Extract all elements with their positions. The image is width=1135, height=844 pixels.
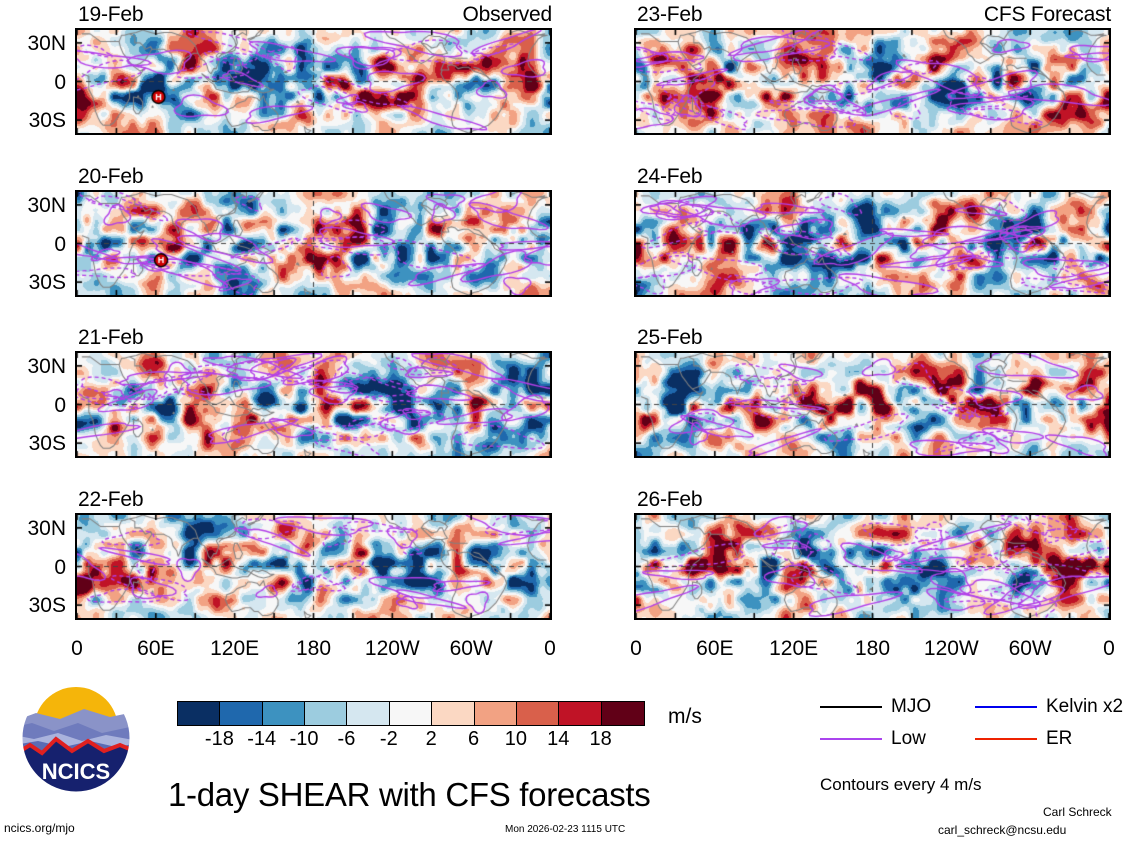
legend-label-1: Kelvin x2 — [1046, 697, 1123, 716]
colorbar-segment-10 — [602, 702, 644, 725]
y-axis-label-row2-30s: 30S — [0, 272, 66, 293]
legend-item-mjo: MJO — [820, 697, 931, 716]
colorbar-segment-1 — [220, 702, 262, 725]
x-axis-label-observed-2: 120E — [190, 638, 280, 659]
colorbar-segment-2 — [263, 702, 305, 725]
x-axis-label-forecast-2: 120E — [749, 638, 839, 659]
colorbar-units-label: m/s — [668, 706, 702, 727]
colorbar-segment-3 — [305, 702, 347, 725]
y-axis-label-row1-30n: 30N — [0, 33, 66, 54]
legend-label-2: Low — [891, 729, 926, 748]
x-axis-label-forecast-4: 120W — [906, 638, 996, 659]
legend-label-0: MJO — [891, 697, 931, 716]
panel-date-fcst-24-feb: 24-Feb — [637, 166, 702, 187]
colorbar — [177, 701, 645, 726]
panel-date-fcst-23-feb: 23-Feb — [637, 4, 702, 25]
y-axis-label-row3-30s: 30S — [0, 433, 66, 454]
colorbar-segment-7 — [475, 702, 517, 725]
contour-interval-note: Contours every 4 m/s — [820, 776, 982, 793]
colorbar-segment-4 — [347, 702, 389, 725]
x-axis-label-forecast-3: 180 — [828, 638, 918, 659]
footer-site[interactable]: ncics.org/mjo — [4, 822, 75, 834]
x-axis-label-forecast-5: 60W — [985, 638, 1075, 659]
footer-timestamp: Mon 2026-02-23 1115 UTC — [505, 824, 625, 836]
shear-field-fcst-23-feb — [636, 30, 1109, 133]
shear-field-fcst-25-feb — [636, 353, 1109, 456]
ncics-logo: NCICS — [14, 683, 139, 798]
legend-line-2 — [820, 738, 882, 740]
x-axis-label-forecast-1: 60E — [670, 638, 760, 659]
colorbar-segment-0 — [178, 702, 220, 725]
map-panel-obs-19-feb — [75, 28, 552, 135]
colorbar-segment-9 — [559, 702, 601, 725]
shear-field-fcst-26-feb — [636, 515, 1109, 618]
x-axis-label-observed-5: 60W — [426, 638, 516, 659]
map-panel-fcst-25-feb — [634, 351, 1111, 458]
y-axis-label-row4-30s: 30S — [0, 595, 66, 616]
panel-date-obs-20-feb: 20-Feb — [78, 166, 143, 187]
y-axis-label-row1-0: 0 — [0, 72, 66, 93]
y-axis-label-row3-0: 0 — [0, 395, 66, 416]
colorbar-segment-6 — [432, 702, 474, 725]
panel-date-fcst-25-feb: 25-Feb — [637, 327, 702, 348]
map-panel-fcst-26-feb — [634, 513, 1111, 620]
y-axis-label-row2-0: 0 — [0, 234, 66, 255]
legend-line-3 — [975, 738, 1037, 740]
y-axis-label-row4-30n: 30N — [0, 518, 66, 539]
map-panel-fcst-23-feb — [634, 28, 1111, 135]
colorbar-tick-9: 18 — [571, 729, 631, 749]
x-axis-label-forecast-0: 0 — [591, 638, 681, 659]
shear-field-obs-21-feb — [77, 353, 550, 456]
map-panel-fcst-24-feb — [634, 190, 1111, 297]
shear-field-obs-20-feb — [77, 192, 550, 295]
x-axis-label-observed-4: 120W — [347, 638, 437, 659]
x-axis-label-forecast-6: 0 — [1064, 638, 1135, 659]
x-axis-label-observed-6: 0 — [505, 638, 595, 659]
y-axis-label-row3-30n: 30N — [0, 356, 66, 377]
y-axis-label-row1-30s: 30S — [0, 110, 66, 131]
logo-text: NCICS — [42, 759, 110, 784]
y-axis-label-row4-0: 0 — [0, 557, 66, 578]
x-axis-label-observed-1: 60E — [111, 638, 201, 659]
x-axis-label-observed-3: 180 — [269, 638, 359, 659]
shear-field-obs-22-feb — [77, 515, 550, 618]
map-panel-obs-22-feb — [75, 513, 552, 620]
map-panel-obs-20-feb — [75, 190, 552, 297]
panel-date-fcst-26-feb: 26-Feb — [637, 489, 702, 510]
panel-date-obs-19-feb: 19-Feb — [78, 4, 143, 25]
y-axis-label-row2-30n: 30N — [0, 195, 66, 216]
footer-author: Carl Schreck — [1043, 806, 1112, 818]
colorbar-segment-8 — [517, 702, 559, 725]
x-axis-label-observed-0: 0 — [32, 638, 122, 659]
legend-item-kelvin-x2: Kelvin x2 — [975, 697, 1123, 716]
legend-line-1 — [975, 706, 1037, 708]
legend-item-low: Low — [820, 729, 926, 748]
legend-item-er: ER — [975, 729, 1072, 748]
column-header-observed: Observed — [402, 4, 552, 25]
column-header-forecast: CFS Forecast — [961, 4, 1111, 25]
footer-email[interactable]: carl_schreck@ncsu.edu — [938, 824, 1066, 836]
shear-field-obs-19-feb — [77, 30, 550, 133]
map-panel-obs-21-feb — [75, 351, 552, 458]
legend-label-3: ER — [1046, 729, 1072, 748]
panel-date-obs-22-feb: 22-Feb — [78, 489, 143, 510]
colorbar-segment-5 — [390, 702, 432, 725]
page-title: 1-day SHEAR with CFS forecasts — [168, 778, 651, 811]
panel-date-obs-21-feb: 21-Feb — [78, 327, 143, 348]
shear-field-fcst-24-feb — [636, 192, 1109, 295]
legend-line-0 — [820, 706, 882, 708]
